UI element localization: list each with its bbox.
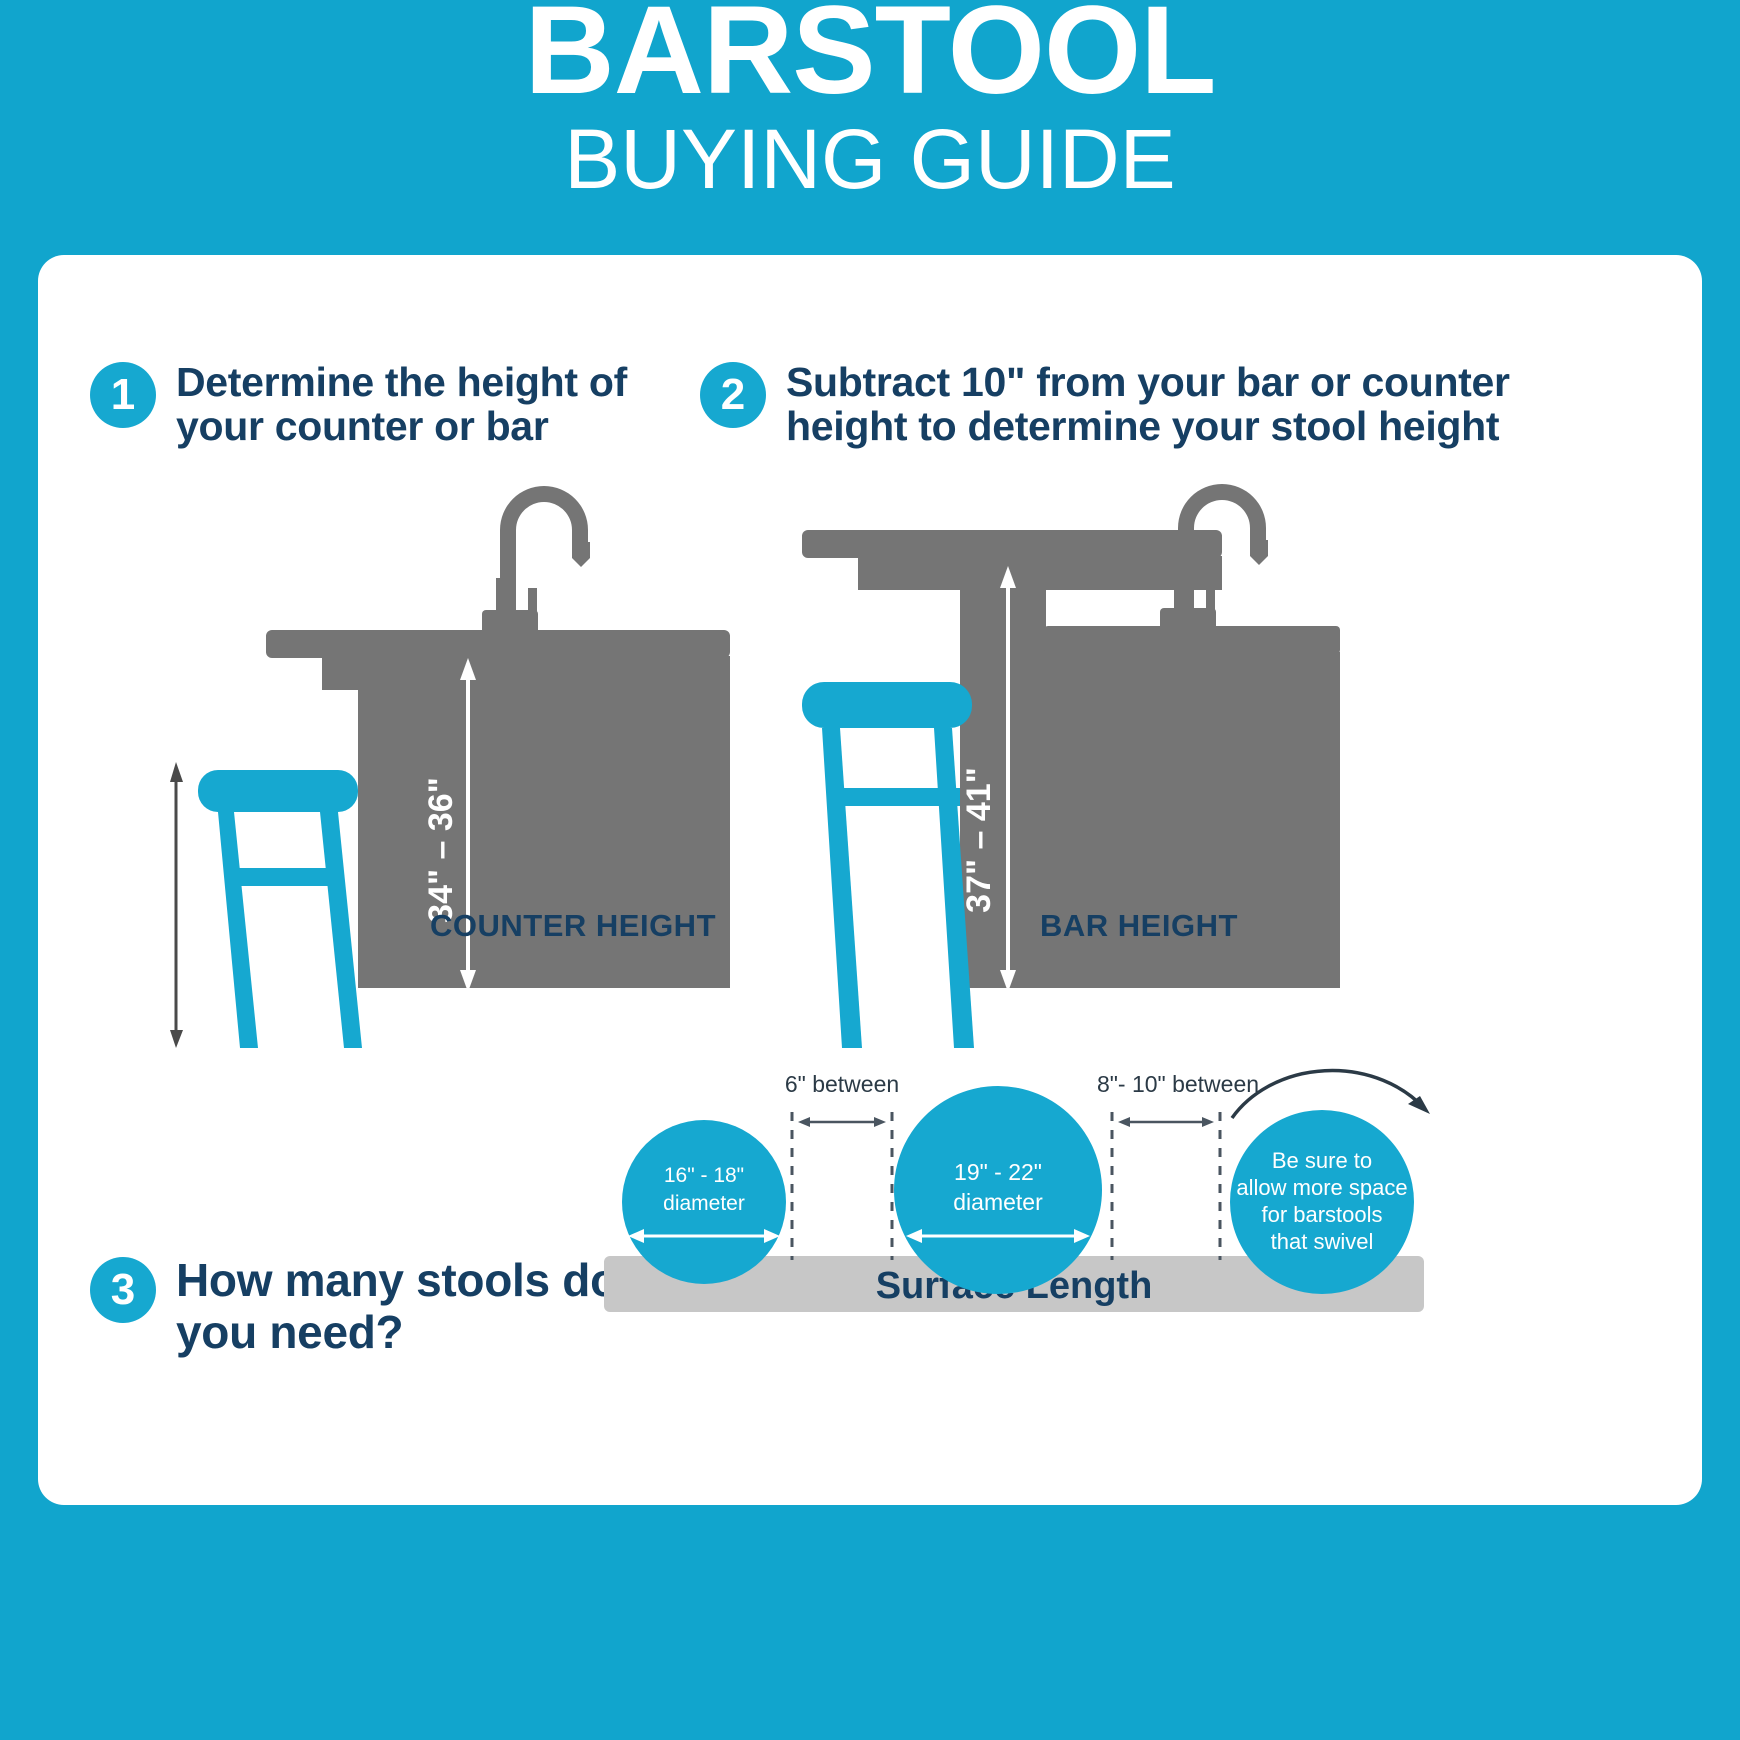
step-2: 2 Subtract 10" from your bar or counter …: [700, 360, 1520, 449]
step-1-badge: 1: [90, 362, 156, 428]
step-2-label: Subtract 10" from your bar or counter he…: [786, 360, 1520, 449]
gap-1-label: 6" between: [785, 1071, 899, 1097]
gap-2-label: 8"- 10" between: [1097, 1071, 1259, 1097]
stool-large-size: 19" - 22": [954, 1159, 1042, 1185]
bar-height-illustration: 37" – 41" 27" – 31": [780, 470, 1340, 1050]
stool-small-size: 16" - 18": [664, 1164, 744, 1187]
step-3-badge: 3: [90, 1257, 156, 1323]
step-3: 3 How many stools do you need?: [90, 1255, 650, 1358]
counter-height-illustration: 34" – 36" 24" – 26": [170, 470, 730, 1050]
stool-small-unit: diameter: [663, 1192, 745, 1215]
stool-spacing-diagram: Surface Length 16" - 18" diameter 6" bet…: [600, 1060, 1440, 1320]
bar-height-value: 37" – 41": [960, 767, 998, 913]
swivel-note-line-3: for barstools: [1261, 1202, 1382, 1227]
faucet-icon: [482, 486, 590, 636]
gap-2-arrow-icon: [1118, 1117, 1214, 1127]
page-subtitle: BUYING GUIDE: [564, 117, 1175, 201]
stool-large-unit: diameter: [953, 1189, 1043, 1215]
page-header: BARSTOOL BUYING GUIDE: [0, 0, 1740, 255]
counter-height-value: 34" – 36": [422, 777, 460, 923]
stool-dimension-arrow-icon: [170, 762, 183, 1048]
swivel-note-line-2: allow more space: [1236, 1175, 1407, 1200]
counter-height-caption: COUNTER HEIGHT: [430, 908, 716, 944]
gap-2-guides: [1112, 1112, 1220, 1260]
swivel-note-line-4: that swivel: [1271, 1229, 1374, 1254]
stool-icon: [198, 770, 362, 1048]
gap-1-guides: [792, 1112, 892, 1260]
stool-icon: [802, 682, 974, 1048]
step-2-badge: 2: [700, 362, 766, 428]
step-1: 1 Determine the height of your counter o…: [90, 360, 710, 449]
gap-1-arrow-icon: [798, 1117, 886, 1127]
step-3-label: How many stools do you need?: [176, 1255, 650, 1358]
step-1-label: Determine the height of your counter or …: [176, 360, 710, 449]
swivel-note-line-1: Be sure to: [1272, 1148, 1372, 1173]
bar-height-caption: BAR HEIGHT: [1040, 908, 1238, 944]
page-title: BARSTOOL: [524, 0, 1215, 111]
